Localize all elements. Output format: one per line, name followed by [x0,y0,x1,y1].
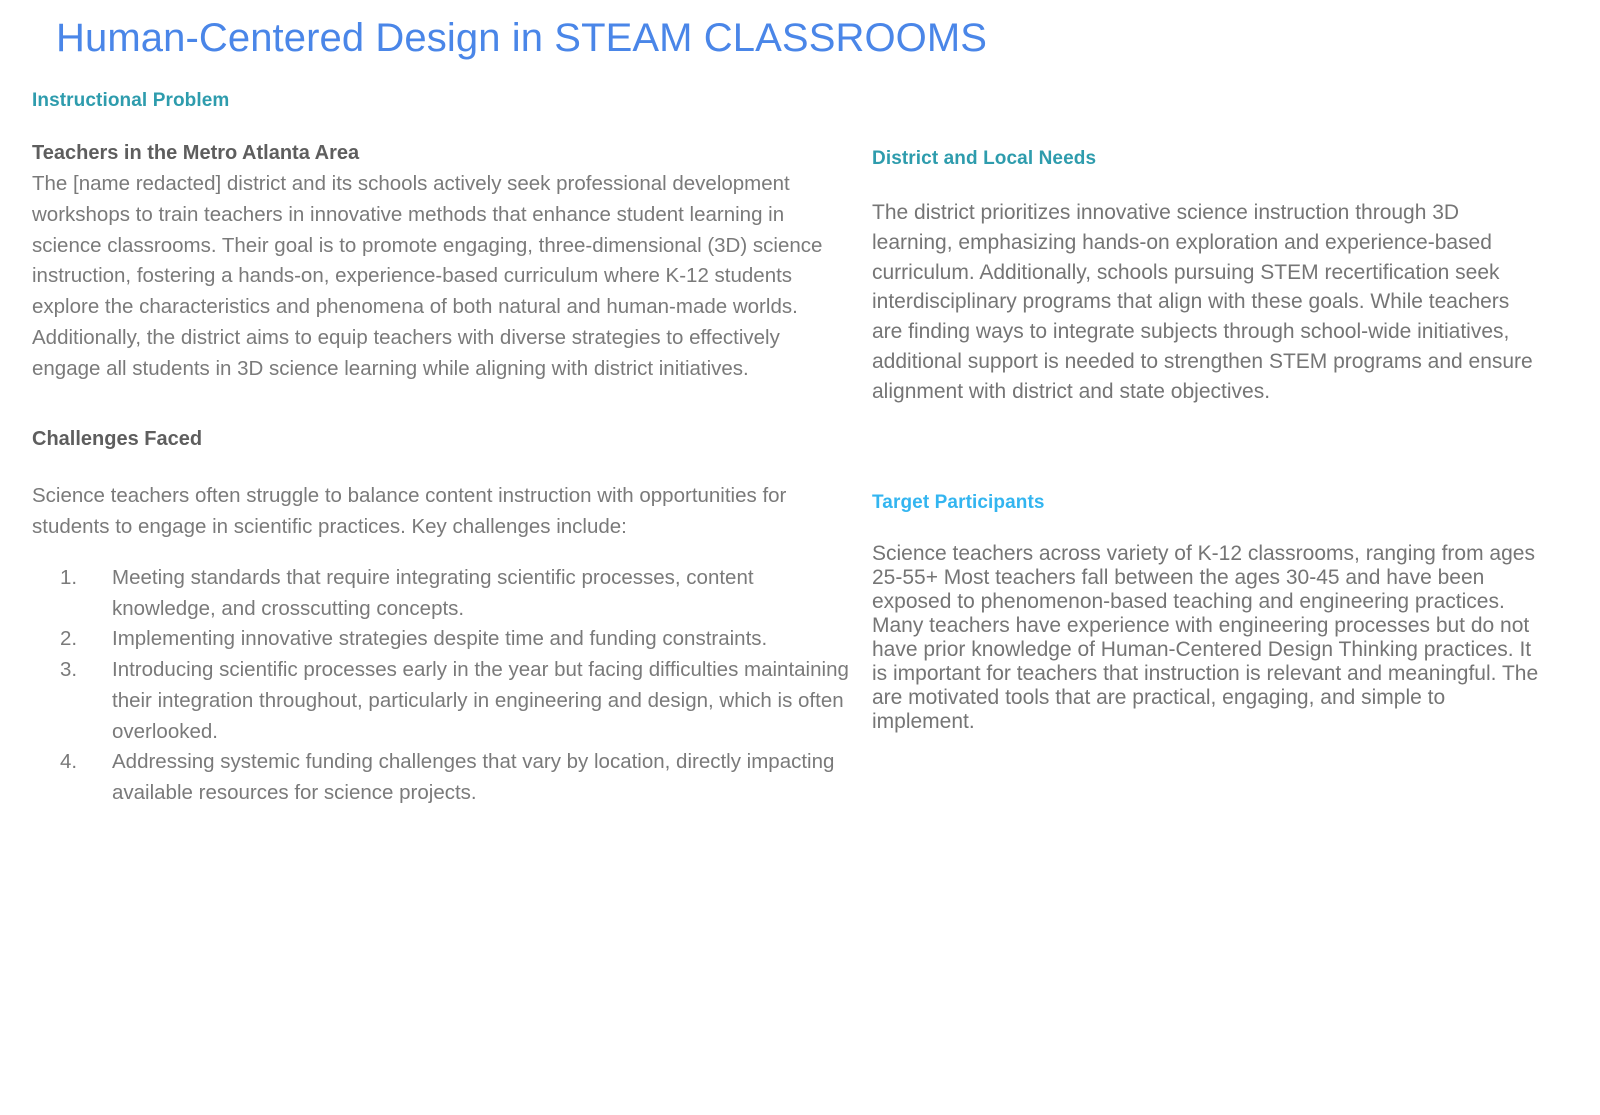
slide-canvas: Human-Centered Design in STEAM CLASSROOM… [0,0,1600,1115]
section-heading-instructional-problem: Instructional Problem [32,90,229,112]
paragraph-teachers-metro-atlanta: The [name redacted] district and its sch… [32,169,850,384]
challenges-list: 1. Meeting standards that require integr… [32,563,850,809]
section-heading-district-and-local-needs: District and Local Needs [872,148,1537,170]
list-item-number: 1. [60,563,90,594]
list-item-label: Addressing systemic funding challenges t… [112,750,834,804]
section-heading-target-participants: Target Participants [872,492,1544,514]
list-item-number: 3. [60,655,90,686]
list-item-number: 4. [60,747,90,778]
subhead-challenges-faced: Challenges Faced [32,426,850,453]
list-item: 1. Meeting standards that require integr… [32,563,850,625]
list-item-label: Implementing innovative strategies despi… [112,627,767,650]
district-needs-block: District and Local Needs The district pr… [872,148,1537,407]
list-item-label: Introducing scientific processes early i… [112,658,849,743]
spacer [872,514,1544,542]
spacer [32,455,850,481]
left-column: Teachers in the Metro Atlanta Area The [… [32,140,850,809]
challenges-block: Challenges Faced Science teachers often … [32,426,850,809]
paragraph-target-participants: Science teachers across variety of K-12 … [872,542,1544,734]
page-title: Human-Centered Design in STEAM CLASSROOM… [56,16,987,61]
list-item: 3. Introducing scientific processes earl… [32,655,850,747]
list-item: 4. Addressing systemic funding challenge… [32,747,850,809]
target-participants-block: Target Participants Science teachers acr… [872,492,1544,734]
paragraph-district-and-local-needs: The district prioritizes innovative scie… [872,198,1537,407]
teachers-block: Teachers in the Metro Atlanta Area The [… [32,140,850,384]
list-item-label: Meeting standards that require integrati… [112,566,754,620]
subhead-teachers-metro-atlanta: Teachers in the Metro Atlanta Area [32,140,850,167]
list-item: 2. Implementing innovative strategies de… [32,624,850,655]
spacer [872,170,1537,198]
list-item-number: 2. [60,624,90,655]
paragraph-challenges-intro: Science teachers often struggle to balan… [32,481,850,543]
spacer [32,384,850,426]
